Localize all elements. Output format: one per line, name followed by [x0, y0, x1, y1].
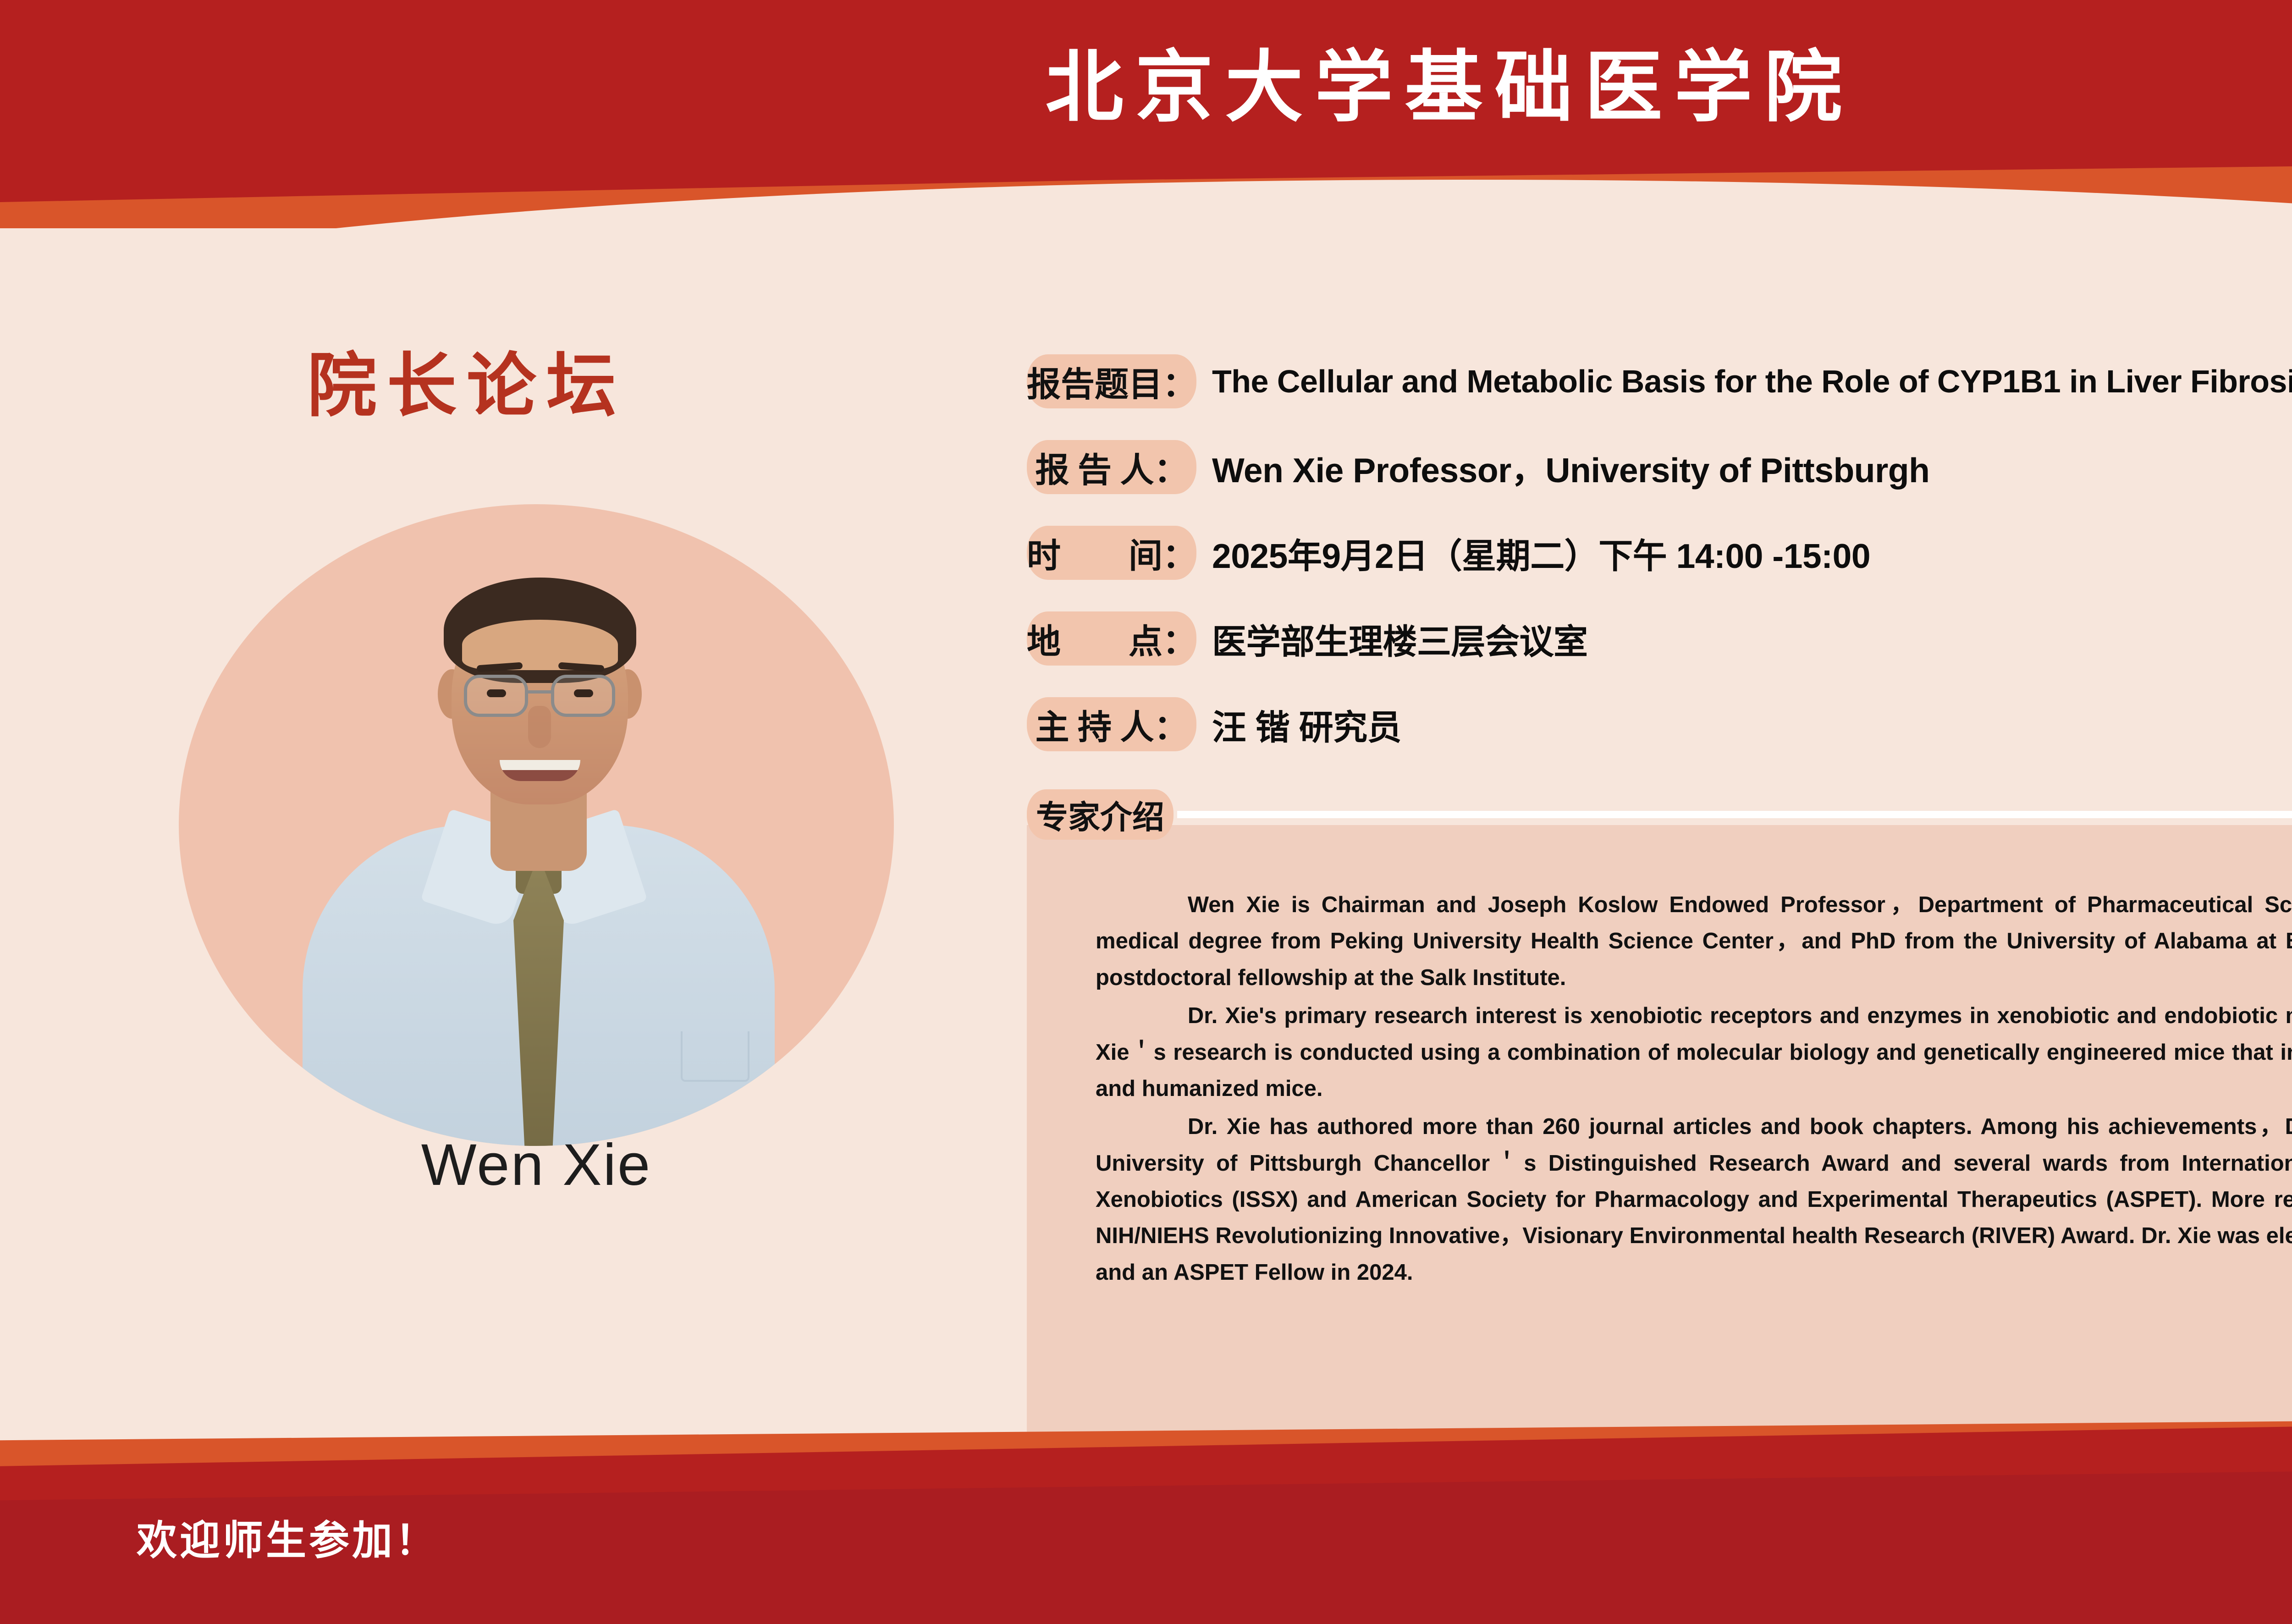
portrait-eye-right — [574, 689, 593, 697]
info-row-time: 时 间： 2025年9月2日（星期二）下午 14:00 -15:00 — [1027, 524, 2292, 581]
portrait-hair — [444, 578, 636, 683]
speaker-portrait-photo — [179, 504, 894, 1146]
expert-intro-divider — [1177, 811, 2292, 818]
info-value-location: 医学部生理楼三层会议室 — [1212, 614, 1588, 664]
portrait-eye-left — [487, 689, 506, 697]
info-row-host: 主 持 人： 汪 锴 研究员 — [1027, 696, 2292, 753]
info-label-speaker: 报 告 人： — [1027, 440, 1196, 494]
expert-intro-paragraph: Wen Xie is Chairman and Joseph Koslow En… — [1096, 887, 2292, 996]
info-value-host: 汪 锴 研究员 — [1212, 699, 1401, 749]
info-label-host: 主 持 人： — [1027, 697, 1196, 751]
info-label-location: 地 点： — [1027, 611, 1196, 666]
portrait-nose — [528, 706, 551, 748]
portrait-glasses-bridge — [526, 690, 553, 694]
footer-welcome-text: 欢迎师生参加！ — [137, 1508, 438, 1566]
forum-series-title: 院长论坛 — [297, 329, 626, 430]
portrait-shirt-pocket — [681, 1031, 749, 1082]
expert-intro-paragraph: Dr. Xie's primary research interest is x… — [1096, 998, 2292, 1107]
speaker-name-label: Wen Xie — [179, 1131, 894, 1199]
poster-root: 北京大学基础医学院 SCHOOL OF BASIC MEDICAL SCIENC… — [0, 0, 2292, 1624]
expert-intro-text: Wen Xie is Chairman and Joseph Koslow En… — [1096, 887, 2292, 1293]
expert-intro-header: 专家介绍 — [1027, 789, 2292, 840]
event-info-list: 报告题目： The Cellular and Metabolic Basis f… — [1027, 353, 2292, 753]
info-value-speaker: Wen Xie Professor，University of Pittsbur… — [1212, 442, 1929, 492]
expert-intro-label: 专家介绍 — [1027, 789, 1174, 840]
info-row-speaker: 报 告 人： Wen Xie Professor，University of P… — [1027, 439, 2292, 495]
portrait-mouth — [500, 760, 580, 781]
info-row-location: 地 点： 医学部生理楼三层会议室 — [1027, 610, 2292, 667]
info-row-topic: 报告题目： The Cellular and Metabolic Basis f… — [1027, 353, 2292, 410]
info-value-topic: The Cellular and Metabolic Basis for the… — [1212, 363, 2292, 400]
info-label-topic: 报告题目： — [1027, 354, 1196, 408]
speaker-portrait-block: Wen Xie — [179, 504, 894, 1169]
info-label-time: 时 间： — [1027, 526, 1196, 580]
organization-title: 北京大学基础医学院 — [0, 44, 2292, 133]
portrait-teeth — [500, 760, 580, 770]
info-value-time: 2025年9月2日（星期二）下午 14:00 -15:00 — [1212, 528, 1870, 578]
expert-intro-paragraph: Dr. Xie has authored more than 260 journ… — [1096, 1109, 2292, 1291]
